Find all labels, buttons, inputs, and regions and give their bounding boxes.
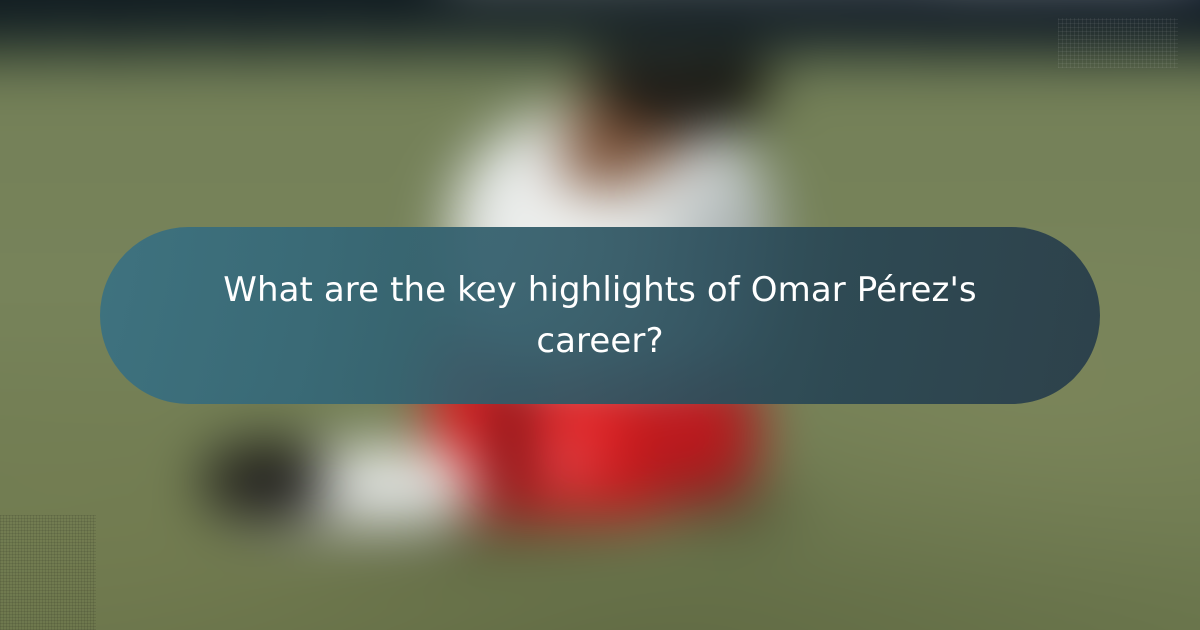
question-pill-overlay: What are the key highlights of Omar Pére… [100,227,1100,404]
player-boot [204,443,327,519]
question-text: What are the key highlights of Omar Pére… [220,265,980,367]
player-shorts-badge [543,437,592,484]
field-line [0,36,1200,41]
question-card: What are the key highlights of Omar Pére… [0,0,1200,630]
